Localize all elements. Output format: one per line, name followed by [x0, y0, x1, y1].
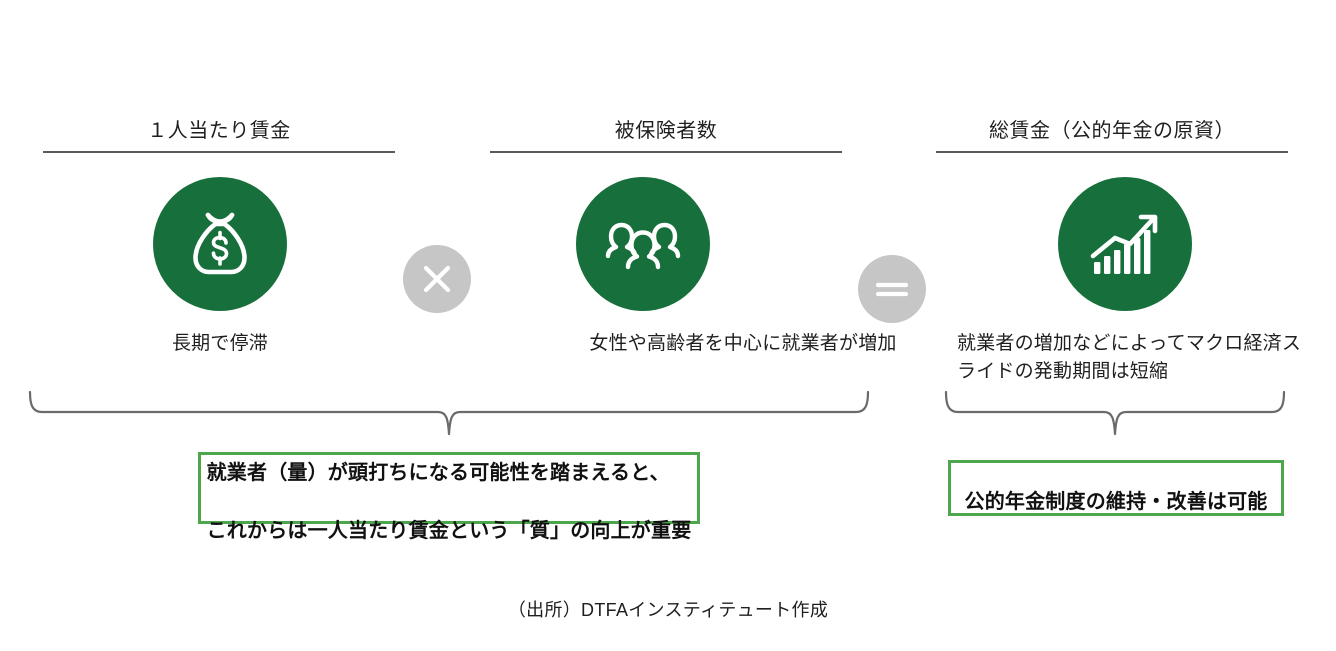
caption-total-wages-line2: ライドの発動期間は短縮 — [957, 358, 1336, 386]
conclusion-right-box: 公的年金制度の維持・改善は可能 — [948, 460, 1284, 516]
conclusion-left-line1: 就業者（量）が頭打ちになる可能性を踏まえると、 — [207, 462, 670, 484]
multiply-operator — [403, 245, 471, 313]
column-rule-1 — [43, 151, 395, 153]
conclusion-left-box: 就業者（量）が頭打ちになる可能性を踏まえると、 これからは一人当たり賃金という「… — [198, 452, 700, 524]
people-group-icon — [600, 209, 686, 279]
growth-chart-icon — [1085, 205, 1165, 283]
column-header-total-wages: 総賃金（公的年金の原資） — [936, 118, 1288, 144]
money-bag-icon — [181, 205, 259, 283]
equals-operator — [858, 255, 926, 323]
column-header-insured-count: 被保険者数 — [490, 118, 842, 144]
figure-canvas: １人当たり賃金 長期で停滞 被保険者数 — [0, 0, 1336, 651]
caption-wage-per-capita: 長期で停滞 — [60, 330, 380, 358]
conclusion-right-text: 公的年金制度の維持・改善は可能 — [965, 459, 1268, 517]
column-header-wage-per-capita: １人当たり賃金 — [43, 118, 395, 144]
equals-icon — [872, 276, 912, 302]
people-group-icon-circle — [576, 177, 710, 311]
column-rule-2 — [490, 151, 842, 153]
conclusion-left-line2: これからは一人当たり賃金という「質」の向上が重要 — [207, 520, 692, 542]
conclusion-left-text: 就業者（量）が頭打ちになる可能性を踏まえると、 これからは一人当たり賃金という「… — [207, 430, 692, 546]
caption-insured-count: 女性や高齢者を中心に就業者が増加 — [473, 330, 1013, 358]
money-bag-icon-circle — [153, 177, 287, 311]
conclusion-right-line1: 公的年金制度の維持・改善は可能 — [965, 491, 1268, 513]
column-rule-3 — [936, 151, 1288, 153]
growth-chart-icon-circle — [1058, 177, 1192, 311]
caption-total-wages-line1: 就業者の増加などによってマクロ経済ス — [957, 330, 1336, 358]
multiply-icon — [419, 261, 455, 297]
brace-right — [936, 390, 1296, 440]
source-note: （出所）DTFAインスティテュート作成 — [0, 596, 1336, 622]
